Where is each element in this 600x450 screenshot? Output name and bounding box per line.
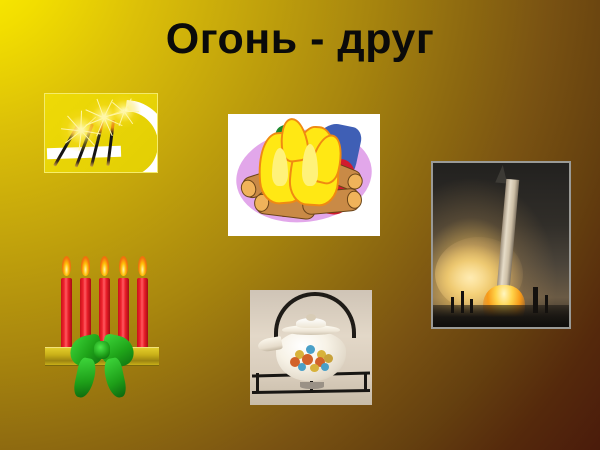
- candle-flame: [119, 256, 128, 276]
- launch-tower: [545, 295, 548, 313]
- candle: [61, 278, 72, 354]
- grate-bar: [364, 373, 367, 392]
- launch-tower: [451, 297, 454, 313]
- spark-ray: [124, 111, 139, 112]
- candle-flame: [100, 256, 109, 276]
- sparkler-burst: [107, 94, 141, 128]
- spark-ray: [123, 98, 132, 112]
- candle-flame: [138, 256, 147, 276]
- launch-tower: [461, 291, 464, 313]
- launch-tower: [470, 299, 473, 313]
- kettle-caption: Чайник на плите: [250, 290, 251, 291]
- spark-ray: [123, 111, 133, 124]
- candles-image[interactable]: Свечи с бантом: [44, 248, 160, 406]
- sparklers-caption: Бенгальские огни: [45, 94, 46, 95]
- decal-flower: [306, 345, 315, 354]
- page-title: Огонь - друг: [0, 18, 600, 61]
- spark-ray: [78, 131, 81, 151]
- grate-bar: [256, 373, 259, 392]
- kettle-floral-decal: [290, 345, 334, 371]
- launch-tower: [533, 287, 538, 313]
- campfire-clipart[interactable]: Костёр: [228, 114, 380, 236]
- candle-flame: [81, 256, 90, 276]
- kettle-base: [300, 382, 324, 389]
- candles-caption: Свечи с бантом: [44, 248, 45, 249]
- kettle-on-stove-photo[interactable]: Чайник на плите: [250, 290, 372, 405]
- candle-flame: [62, 256, 71, 276]
- presentation-slide: Огонь - друг Бенгальские огни: [0, 0, 600, 450]
- kettle-lid-knob: [306, 314, 316, 321]
- decal-flower: [321, 363, 329, 371]
- decal-flower: [310, 364, 319, 372]
- campfire-caption: Костёр: [228, 114, 229, 115]
- rocket-launch-photo[interactable]: Запуск ракеты: [431, 161, 571, 329]
- decal-flower: [324, 354, 333, 363]
- bow-knot: [94, 341, 110, 359]
- sparklers-image[interactable]: Бенгальские огни: [44, 93, 158, 173]
- decal-flower: [298, 363, 306, 371]
- candle: [137, 278, 148, 354]
